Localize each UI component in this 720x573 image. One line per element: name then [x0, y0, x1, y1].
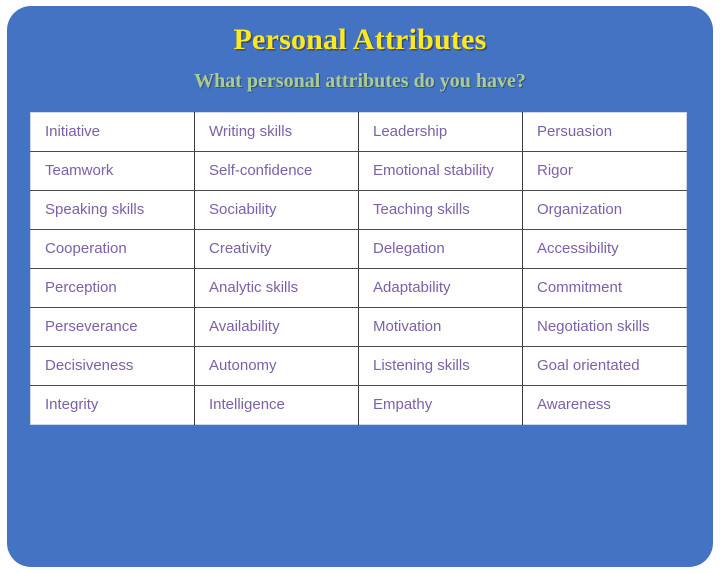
- table-row: IntegrityIntelligenceEmpathyAwareness: [31, 386, 687, 425]
- attribute-cell: Autonomy: [195, 347, 359, 386]
- attribute-label: Integrity: [45, 395, 194, 415]
- attribute-cell: Organization: [523, 191, 687, 230]
- attribute-cell: Cooperation: [31, 230, 195, 269]
- attribute-cell: Rigor: [523, 152, 687, 191]
- attribute-cell: Intelligence: [195, 386, 359, 425]
- attribute-label: Organization: [537, 200, 686, 220]
- attribute-cell: Perseverance: [31, 308, 195, 347]
- attribute-label: Writing skills: [209, 122, 358, 142]
- attribute-label: Persuasion: [537, 122, 686, 142]
- attribute-label: Rigor: [537, 161, 686, 181]
- attribute-label: Analytic skills: [209, 278, 358, 298]
- attribute-cell: Availability: [195, 308, 359, 347]
- page-subtitle: What personal attributes do you have?: [7, 69, 713, 93]
- slide-canvas: Personal Attributes What personal attrib…: [0, 0, 720, 573]
- attribute-cell: Perception: [31, 269, 195, 308]
- attribute-label: Leadership: [373, 122, 522, 142]
- attribute-cell: Speaking skills: [31, 191, 195, 230]
- attribute-cell: Decisiveness: [31, 347, 195, 386]
- attribute-cell: Delegation: [359, 230, 523, 269]
- attribute-label: Initiative: [45, 122, 194, 142]
- attribute-cell: Creativity: [195, 230, 359, 269]
- attribute-label: Empathy: [373, 395, 522, 415]
- attribute-label: Autonomy: [209, 356, 358, 376]
- attribute-label: Emotional stability: [373, 161, 522, 181]
- attribute-label: Perception: [45, 278, 194, 298]
- attribute-cell: Goal orientated: [523, 347, 687, 386]
- attribute-cell: Analytic skills: [195, 269, 359, 308]
- attribute-cell: Initiative: [31, 113, 195, 152]
- attributes-table: InitiativeWriting skillsLeadershipPersua…: [30, 112, 687, 425]
- attribute-label: Creativity: [209, 239, 358, 259]
- attribute-cell: Writing skills: [195, 113, 359, 152]
- attribute-cell: Emotional stability: [359, 152, 523, 191]
- attribute-label: Awareness: [537, 395, 686, 415]
- attribute-label: Perseverance: [45, 317, 194, 337]
- attribute-cell: Empathy: [359, 386, 523, 425]
- attribute-cell: Motivation: [359, 308, 523, 347]
- attribute-label: Negotiation skills: [537, 317, 686, 337]
- table-row: Speaking skillsSociabilityTeaching skill…: [31, 191, 687, 230]
- attribute-cell: Awareness: [523, 386, 687, 425]
- table-row: InitiativeWriting skillsLeadershipPersua…: [31, 113, 687, 152]
- attribute-label: Speaking skills: [45, 200, 194, 220]
- attribute-cell: Persuasion: [523, 113, 687, 152]
- attribute-label: Cooperation: [45, 239, 194, 259]
- attribute-cell: Leadership: [359, 113, 523, 152]
- personal-attributes-card: Personal Attributes What personal attrib…: [7, 6, 713, 567]
- attribute-cell: Sociability: [195, 191, 359, 230]
- table-row: PerseveranceAvailabilityMotivationNegoti…: [31, 308, 687, 347]
- table-row: TeamworkSelf-confidenceEmotional stabili…: [31, 152, 687, 191]
- attribute-label: Motivation: [373, 317, 522, 337]
- attribute-label: Decisiveness: [45, 356, 194, 376]
- attribute-cell: Integrity: [31, 386, 195, 425]
- attributes-table-body: InitiativeWriting skillsLeadershipPersua…: [31, 113, 687, 425]
- attribute-label: Availability: [209, 317, 358, 337]
- attribute-label: Sociability: [209, 200, 358, 220]
- attribute-cell: Adaptability: [359, 269, 523, 308]
- attribute-label: Listening skills: [373, 356, 522, 376]
- attribute-label: Self-confidence: [209, 161, 358, 181]
- attribute-label: Teamwork: [45, 161, 194, 181]
- page-title: Personal Attributes: [7, 23, 713, 57]
- attribute-cell: Self-confidence: [195, 152, 359, 191]
- attribute-label: Delegation: [373, 239, 522, 259]
- table-row: CooperationCreativityDelegationAccessibi…: [31, 230, 687, 269]
- attribute-cell: Commitment: [523, 269, 687, 308]
- attribute-label: Accessibility: [537, 239, 686, 259]
- attribute-cell: Teaching skills: [359, 191, 523, 230]
- attribute-cell: Listening skills: [359, 347, 523, 386]
- attribute-cell: Accessibility: [523, 230, 687, 269]
- table-row: DecisivenessAutonomyListening skillsGoal…: [31, 347, 687, 386]
- attribute-label: Adaptability: [373, 278, 522, 298]
- attribute-label: Teaching skills: [373, 200, 522, 220]
- attribute-cell: Teamwork: [31, 152, 195, 191]
- attribute-label: Goal orientated: [537, 356, 686, 376]
- attribute-label: Commitment: [537, 278, 686, 298]
- table-row: PerceptionAnalytic skillsAdaptabilityCom…: [31, 269, 687, 308]
- attribute-label: Intelligence: [209, 395, 358, 415]
- attribute-cell: Negotiation skills: [523, 308, 687, 347]
